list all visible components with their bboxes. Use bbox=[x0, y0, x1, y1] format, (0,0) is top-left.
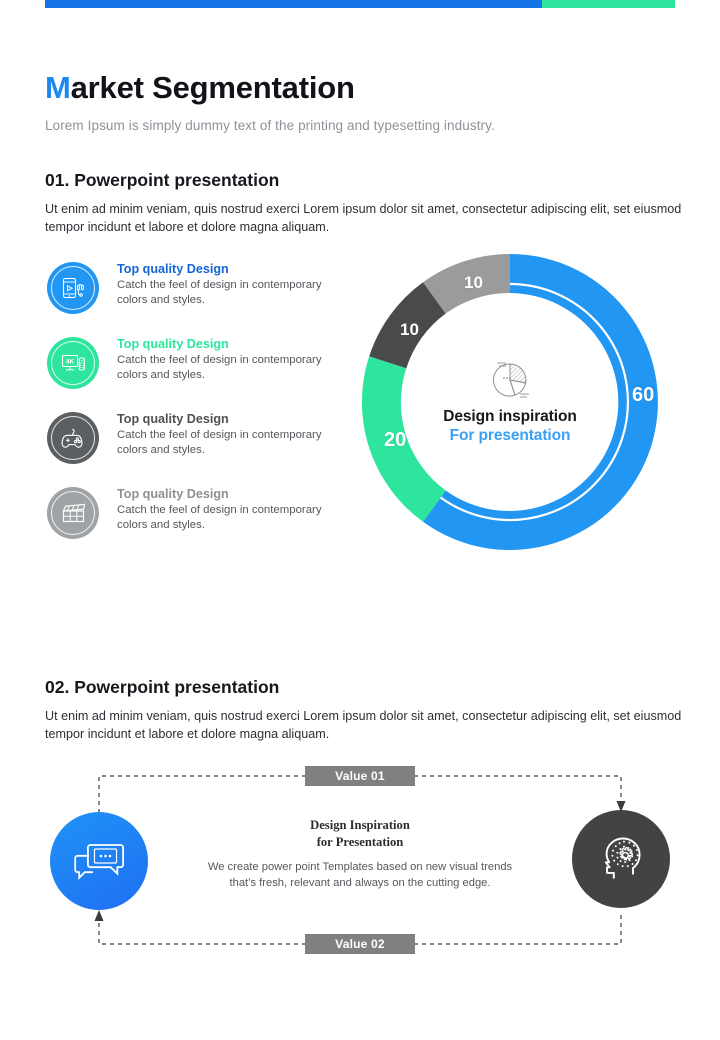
svg-text:4K: 4K bbox=[65, 358, 74, 365]
page-title: Market Segmentation bbox=[45, 70, 355, 106]
donut-label-10-dark: 10 bbox=[400, 320, 419, 340]
donut-label-20: 20 bbox=[384, 429, 406, 452]
cycle-body-text: We create power point Templates based on… bbox=[205, 860, 515, 891]
cycle-heading-line-2: for Presentation bbox=[205, 834, 515, 851]
feature-title: Top quality Design bbox=[117, 261, 337, 277]
feature-text-3: Top quality Design Catch the feel of des… bbox=[117, 411, 337, 459]
head-gear-idea-icon bbox=[595, 833, 647, 885]
donut-chart-svg bbox=[352, 252, 668, 552]
top-accent-bar-green bbox=[542, 0, 675, 8]
top-accent-bar bbox=[45, 0, 675, 8]
donut-label-60: 60 bbox=[632, 384, 654, 407]
feature-badge-1 bbox=[47, 262, 99, 314]
list-item[interactable]: Top quality Design Catch the feel of des… bbox=[47, 262, 337, 337]
cycle-node-right[interactable] bbox=[572, 810, 670, 908]
feature-badge-2: 4K bbox=[47, 337, 99, 389]
top-accent-bar-blue bbox=[45, 0, 542, 8]
feature-title: Top quality Design bbox=[117, 411, 337, 427]
cycle-diagram: Value 01 Value 02 Design Inspiration for… bbox=[45, 755, 675, 965]
feature-text-4: Top quality Design Catch the feel of des… bbox=[117, 486, 337, 534]
arrow-up-icon bbox=[95, 910, 104, 921]
gear-brain-dots bbox=[611, 841, 638, 868]
feature-description: Catch the feel of design in contemporary… bbox=[117, 503, 337, 534]
feature-badge-3 bbox=[47, 412, 99, 464]
list-item[interactable]: Top quality Design Catch the feel of des… bbox=[47, 487, 337, 562]
feature-title: Top quality Design bbox=[117, 486, 337, 502]
slide-canvas: Market Segmentation Lorem Ipsum is simpl… bbox=[0, 0, 720, 1040]
section-1-paragraph: Ut enim ad minim veniam, quis nostrud ex… bbox=[45, 200, 685, 236]
value-badge-bottom[interactable]: Value 02 bbox=[305, 934, 415, 954]
feature-text-2: Top quality Design Catch the feel of des… bbox=[117, 336, 337, 384]
list-item[interactable]: 4K Top quality Design Catch the feel of … bbox=[47, 337, 337, 412]
cycle-node-left[interactable] bbox=[50, 812, 148, 910]
section-2-heading: 02. Powerpoint presentation bbox=[45, 677, 279, 698]
list-item[interactable]: Top quality Design Catch the feel of des… bbox=[47, 412, 337, 487]
chat-bubbles-icon bbox=[73, 837, 125, 885]
cycle-heading-line-1: Design Inspiration bbox=[205, 817, 515, 834]
gamepad-icon bbox=[59, 425, 87, 451]
donut-chart: 60 20 10 10 Design bbox=[352, 252, 668, 552]
page-title-rest: arket Segmentation bbox=[71, 70, 355, 105]
page-title-accent-letter: M bbox=[45, 70, 71, 105]
section-2-paragraph: Ut enim ad minim veniam, quis nostrud ex… bbox=[45, 707, 685, 743]
page-subtitle: Lorem Ipsum is simply dummy text of the … bbox=[45, 118, 495, 133]
monitor-4k-remote-icon: 4K bbox=[60, 350, 87, 376]
feature-description: Catch the feel of design in contemporary… bbox=[117, 353, 337, 384]
cycle-center-text: Design Inspiration for Presentation We c… bbox=[205, 817, 515, 891]
feature-badge-4 bbox=[47, 487, 99, 539]
feature-text-1: Top quality Design Catch the feel of des… bbox=[117, 261, 337, 309]
section-1-heading: 01. Powerpoint presentation bbox=[45, 170, 279, 191]
feature-list: Top quality Design Catch the feel of des… bbox=[47, 262, 337, 562]
clapperboard-icon bbox=[60, 500, 87, 526]
feature-description: Catch the feel of design in contemporary… bbox=[117, 428, 337, 459]
smartphone-play-headphones-icon bbox=[60, 275, 86, 301]
feature-description: Catch the feel of design in contemporary… bbox=[117, 278, 337, 309]
donut-label-10-light: 10 bbox=[464, 273, 483, 293]
feature-title: Top quality Design bbox=[117, 336, 337, 352]
value-badge-top[interactable]: Value 01 bbox=[305, 766, 415, 786]
